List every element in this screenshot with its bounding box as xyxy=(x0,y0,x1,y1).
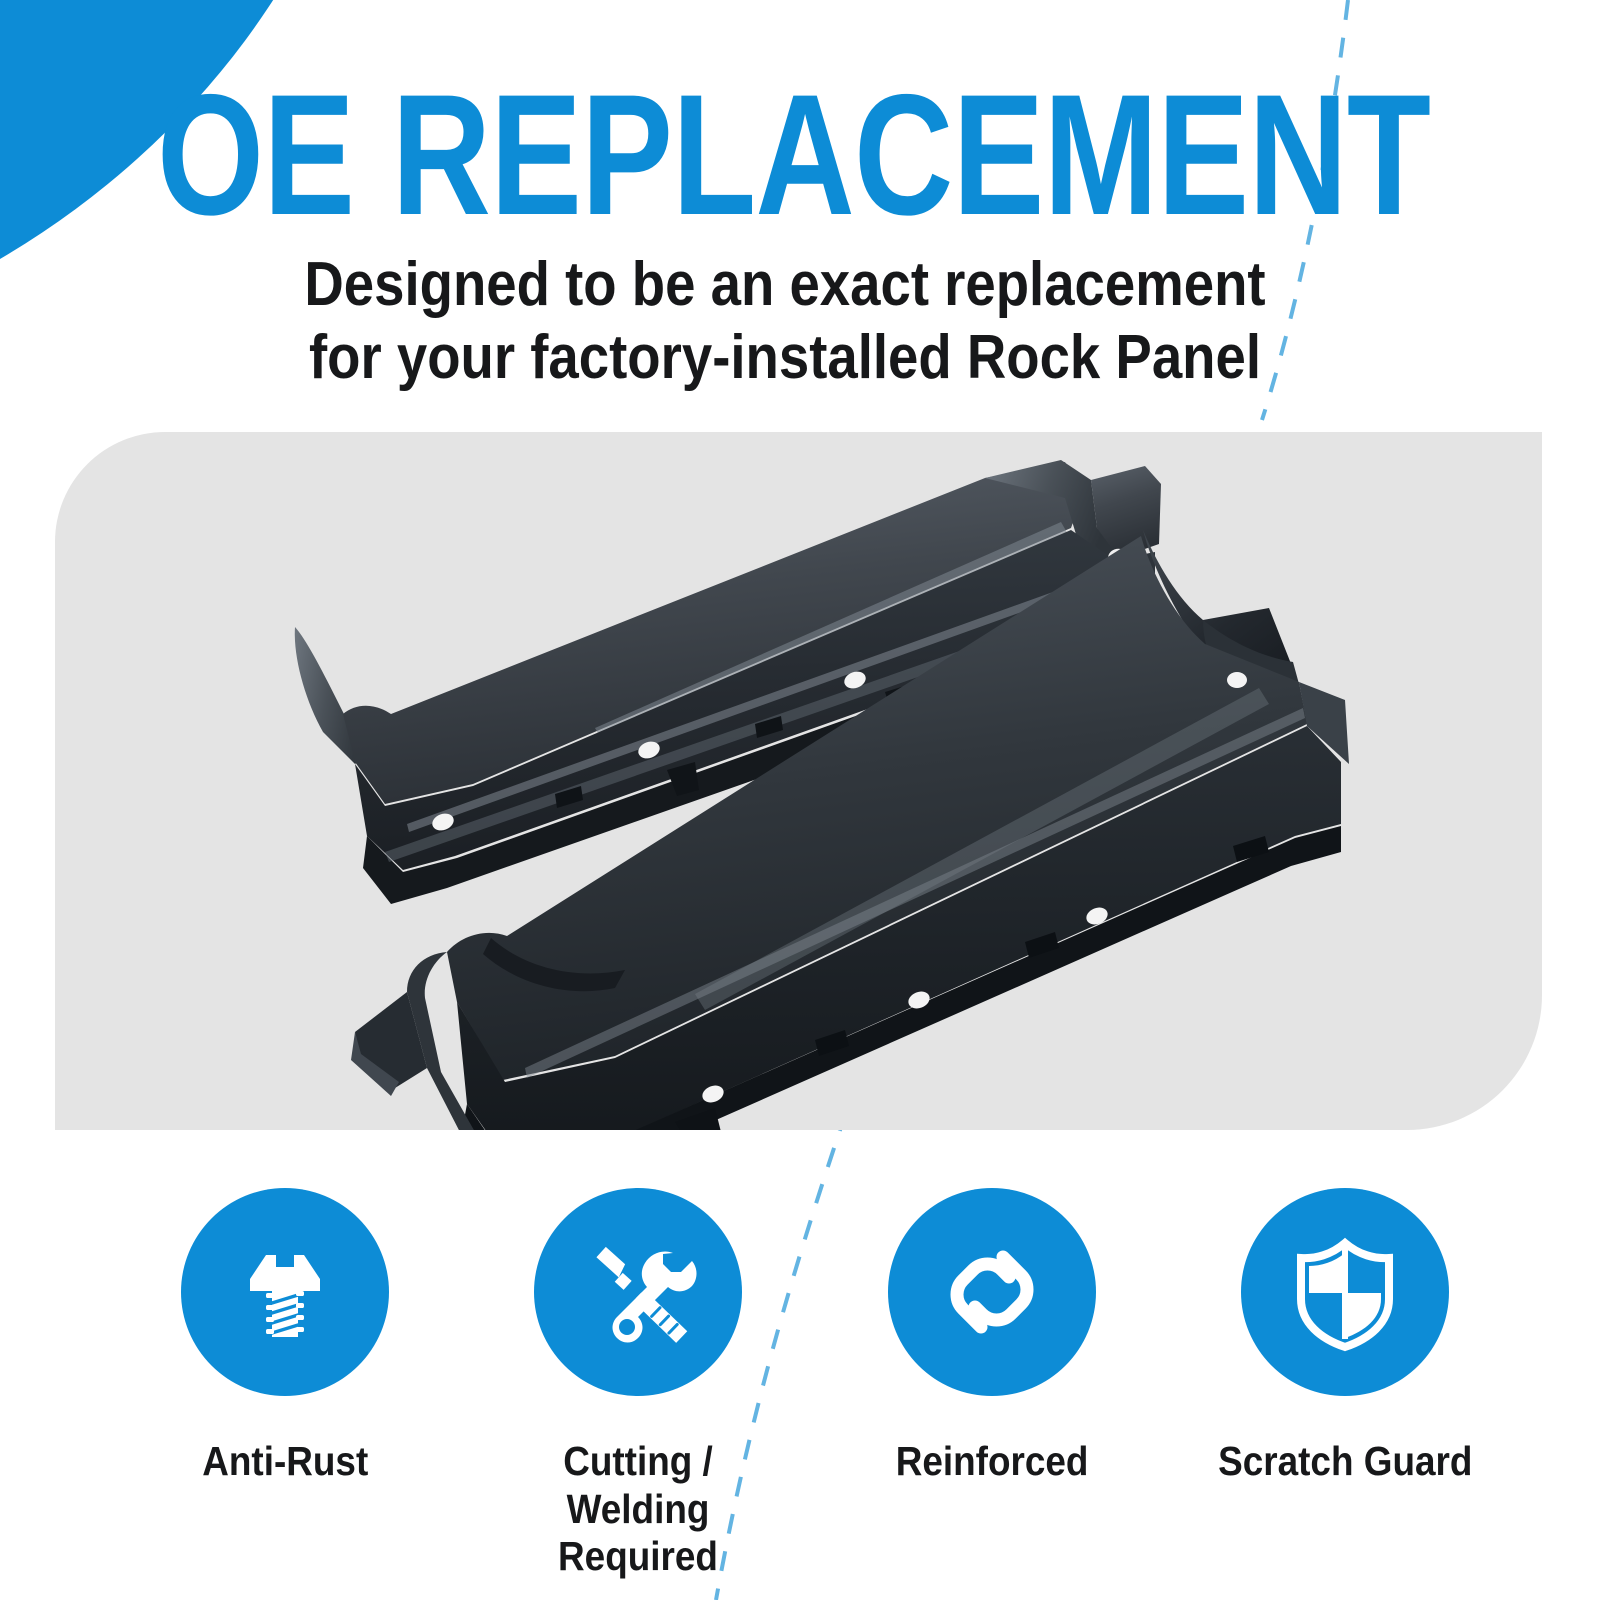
shield-icon xyxy=(1287,1231,1403,1353)
feature-item-reinforced: Reinforced xyxy=(827,1188,1157,1486)
feature-item-anti-rust: Anti-Rust xyxy=(120,1188,450,1486)
feature-label-line1: Scratch Guard xyxy=(1218,1438,1472,1486)
feature-item-cutting-welding: Cutting / Welding Required xyxy=(473,1188,803,1581)
feature-label-line1: Reinforced xyxy=(895,1438,1088,1486)
product-infographic: OE REPLACEMENT Designed to be an exact r… xyxy=(0,0,1600,1600)
product-photo xyxy=(55,432,1542,1130)
feature-label-reinforced: Reinforced xyxy=(895,1438,1088,1486)
feature-badge-reinforced xyxy=(888,1188,1096,1396)
header-block: OE REPLACEMENT Designed to be an exact r… xyxy=(0,82,1570,394)
product-photo-panel xyxy=(55,432,1542,1130)
feature-label-anti-rust: Anti-Rust xyxy=(202,1438,368,1486)
feature-label-scratch-guard: Scratch Guard xyxy=(1218,1438,1472,1486)
page-subtitle: Designed to be an exact replacement for … xyxy=(94,248,1476,394)
feature-badge-anti-rust xyxy=(181,1188,389,1396)
feature-label-line1: Anti-Rust xyxy=(202,1438,368,1486)
tools-icon xyxy=(577,1231,699,1353)
chain-link-icon xyxy=(931,1231,1053,1353)
feature-row: Anti-Rust xyxy=(120,1188,1510,1581)
feature-badge-scratch-guard xyxy=(1241,1188,1449,1396)
feature-label-line1: Cutting / Welding xyxy=(490,1438,787,1533)
page-title: OE REPLACEMENT xyxy=(157,82,1413,230)
feature-label-line2: Required xyxy=(490,1533,787,1581)
subtitle-line-1: Designed to be an exact replacement xyxy=(304,250,1265,319)
subtitle-line-2: for your factory-installed Rock Panel xyxy=(94,321,1476,394)
feature-badge-cutting-welding xyxy=(534,1188,742,1396)
screw-icon xyxy=(226,1233,344,1351)
feature-label-cutting-welding: Cutting / Welding Required xyxy=(490,1438,787,1581)
feature-item-scratch-guard: Scratch Guard xyxy=(1180,1188,1510,1486)
